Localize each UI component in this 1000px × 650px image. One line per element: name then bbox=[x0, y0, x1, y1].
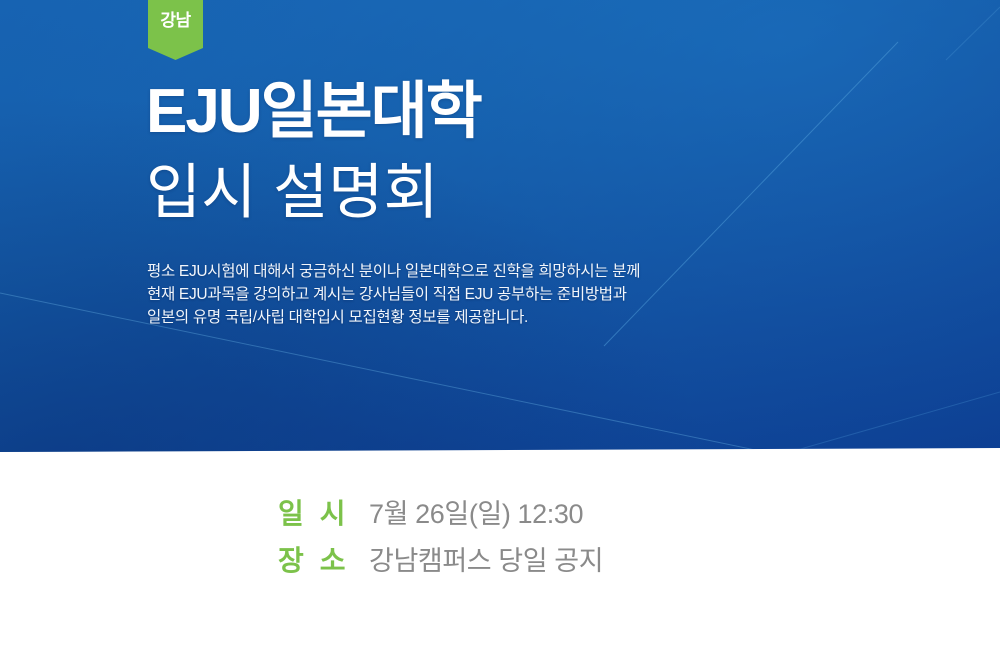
event-details: 일시 7월 26일(일) 12:30 장소 강남캠퍼스 당일 공지 bbox=[0, 500, 1000, 594]
date-label: 일시 bbox=[276, 500, 369, 528]
description-paragraph: 평소 EJU시험에 대해서 궁금하신 분이나 일본대학으로 진학을 희망하시는 … bbox=[147, 260, 640, 329]
event-detail-row-place: 장소 강남캠퍼스 당일 공지 bbox=[0, 547, 1000, 594]
eju-seminar-banner: 강남 EJU일본대학 입시 설명회 평소 EJU시험에 대해서 궁금하신 분이나… bbox=[0, 0, 1000, 650]
description-line-1: 평소 EJU시험에 대해서 궁금하신 분이나 일본대학으로 진학을 희망하시는 … bbox=[147, 260, 640, 283]
hero-panel: 강남 EJU일본대학 입시 설명회 평소 EJU시험에 대해서 궁금하신 분이나… bbox=[0, 0, 1000, 452]
place-value: 강남캠퍼스 당일 공지 bbox=[369, 548, 603, 575]
place-label: 장소 bbox=[276, 547, 369, 575]
date-value: 7월 26일(일) 12:30 bbox=[369, 501, 583, 528]
event-detail-row-date: 일시 7월 26일(일) 12:30 bbox=[0, 500, 1000, 547]
headline-secondary: 입시 설명회 bbox=[146, 158, 439, 227]
description-line-3: 일본의 유명 국립/사립 대학입시 모집현황 정보를 제공합니다. bbox=[147, 306, 640, 329]
headline-primary: EJU일본대학 bbox=[146, 78, 481, 146]
description-line-2: 현재 EJU과목을 강의하고 계시는 강사님들이 직접 EJU 공부하는 준비방… bbox=[147, 283, 640, 306]
campus-ribbon-label: 강남 bbox=[160, 12, 190, 29]
campus-ribbon-badge: 강남 bbox=[148, 0, 203, 60]
